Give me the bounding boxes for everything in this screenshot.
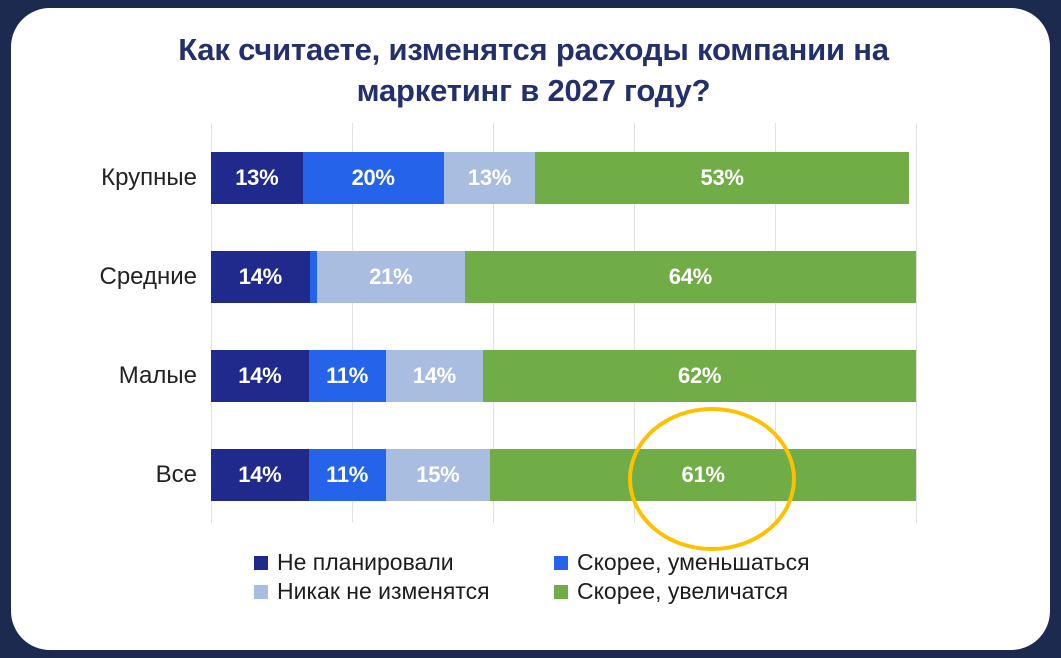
bar-segment[interactable]: 13% [211,152,303,204]
legend-swatch-icon [254,585,268,599]
bar-segment[interactable]: 11% [309,350,386,402]
legend-swatch-icon [254,556,268,570]
bar-segment[interactable]: 14% [386,350,484,402]
category-label: Крупные [27,152,197,204]
chart-legend: Не планировалиСкорее, уменьшатьсяНикак н… [254,551,904,603]
plot-area: 13%20%13%53%14%21%64%14%11%14%62%14%11%1… [211,123,916,523]
bar-row[interactable]: 14%21%64% [211,251,916,303]
bar-segment[interactable]: 20% [303,152,444,204]
bar-segment[interactable] [310,251,317,303]
legend-label: Скорее, уменьшаться [577,551,810,574]
legend-swatch-icon [554,585,568,599]
legend-item[interactable]: Скорее, увеличатся [554,580,904,603]
legend-label: Не планировали [277,551,454,574]
category-label: Все [27,449,197,501]
legend-item[interactable]: Никак не изменятся [254,580,554,603]
category-label: Малые [27,350,197,402]
bar-segment[interactable]: 61% [490,449,916,501]
bar-segment[interactable]: 11% [309,449,386,501]
bar-segment[interactable]: 14% [211,449,309,501]
bar-segment[interactable]: 62% [483,350,916,402]
bar-segment[interactable]: 21% [317,251,465,303]
bar-segment[interactable]: 15% [386,449,491,501]
chart-title-line-2: маркетинг в 2027 году? [51,71,1016,112]
category-axis-labels: КрупныеСредниеМалыеВсе [29,123,197,523]
bar-row[interactable]: 14%11%15%61% [211,449,916,501]
chart-title: Как считаете, изменятся расходы компании… [51,30,1016,112]
legend-item[interactable]: Скорее, уменьшаться [554,551,904,574]
legend-label: Никак не изменятся [277,580,490,603]
slide: Как считаете, изменятся расходы компании… [0,0,1061,658]
chart-card: Как считаете, изменятся расходы компании… [8,5,1053,653]
chart-title-line-1: Как считаете, изменятся расходы компании… [51,30,1016,71]
legend-swatch-icon [554,556,568,570]
bar-row[interactable]: 13%20%13%53% [211,152,916,204]
bar-segment[interactable]: 53% [535,152,909,204]
bar-row[interactable]: 14%11%14%62% [211,350,916,402]
bar-segment[interactable]: 14% [211,350,309,402]
bar-segment[interactable]: 14% [211,251,310,303]
legend-item[interactable]: Не планировали [254,551,554,574]
bar-segment[interactable]: 13% [444,152,536,204]
category-label: Средние [27,251,197,303]
gridline [916,123,917,523]
bar-segment[interactable]: 64% [465,251,916,303]
legend-label: Скорее, увеличатся [577,580,788,603]
